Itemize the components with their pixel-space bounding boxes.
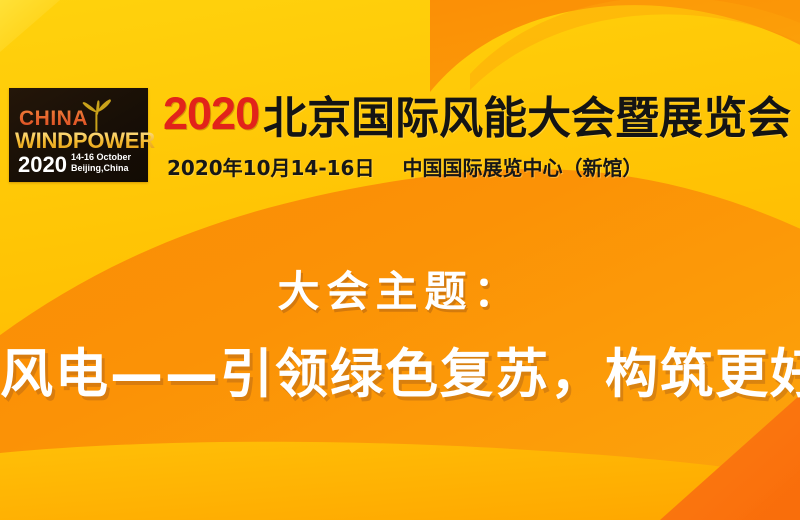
china-windpower-logo: CHINA WINDPOWER 2020 14-16 October Beiji… xyxy=(9,88,148,182)
logo-date-line-1: 14-16 October xyxy=(71,152,131,163)
conference-banner: CHINA WINDPOWER 2020 14-16 October Beiji… xyxy=(0,0,800,520)
event-date: 2020年10月14-16日 xyxy=(167,152,374,181)
event-venue: 中国国际展览中心（新馆） xyxy=(402,152,642,181)
event-title: 2020 北京国际风能大会暨展览会 xyxy=(163,86,791,142)
logo-line-windpower: WINDPOWER xyxy=(15,128,155,154)
event-title-chinese: 北京国际风能大会暨展览会 xyxy=(263,82,791,146)
event-subtitle: 2020年10月14-16日 中国国际展览中心（新馆） xyxy=(167,152,642,181)
logo-date-location: 14-16 October Beijing,China xyxy=(71,152,131,174)
event-title-year: 2020 xyxy=(163,88,259,140)
logo-line-year: 2020 xyxy=(18,152,67,178)
theme-label: 大会主题： xyxy=(0,258,800,319)
theme-statement: 风电——引领绿色复苏，构筑更好未来 xyxy=(0,332,800,408)
logo-date-line-2: Beijing,China xyxy=(71,163,131,174)
